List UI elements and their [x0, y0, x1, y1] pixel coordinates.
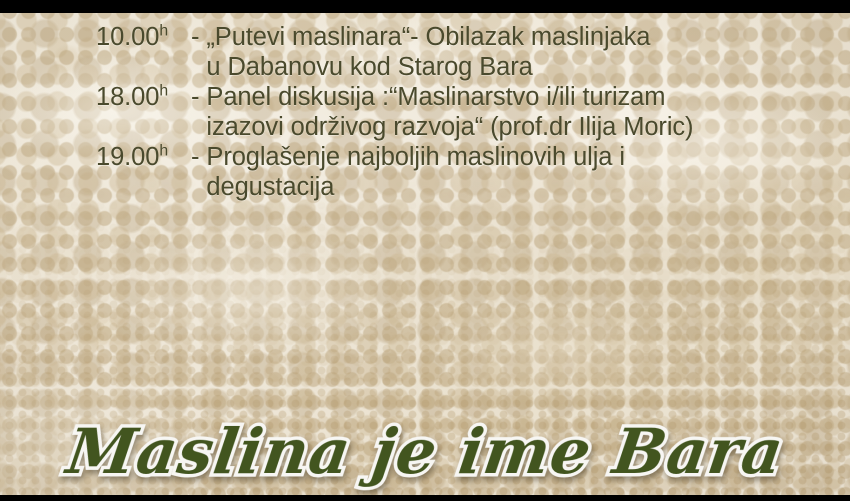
schedule-item-line1: Proglašenje najboljih maslinovih ulja i [206, 143, 625, 171]
schedule-item-line2: u Dabanovu kod Starog Bara [206, 52, 830, 82]
schedule-item-line2: izazovi održivog razvoja“ (prof.dr Ilija… [206, 112, 830, 142]
letterbox-bar-top [0, 0, 850, 13]
schedule-item-line1: Panel diskusija :“Maslinarstvo i/ili tur… [206, 83, 665, 111]
schedule-item-time: 19.00h [96, 142, 186, 172]
schedule-item: 18.00h - Panel diskusija :“Maslinarstvo … [96, 82, 830, 142]
schedule-item: 19.00h - Proglašenje najboljih maslinovi… [96, 142, 830, 202]
schedule-item-description: Proglašenje najboljih maslinovih ulja i … [206, 142, 830, 202]
schedule-item-line2: degustacija [206, 172, 830, 202]
poster-headline: Maslina je ime Bara [0, 421, 850, 491]
schedule-item: 10.00h - „Putevi maslinara“- Obilazak ma… [96, 22, 830, 82]
schedule-item-separator: - [186, 82, 206, 112]
headline-text: Maslina je ime Bara [48, 421, 802, 491]
schedule-item-line1: „Putevi maslinara“- Obilazak maslinjaka [206, 23, 650, 51]
schedule-item-separator: - [186, 22, 206, 52]
schedule-item-separator: - [186, 142, 206, 172]
time-suffix: h [159, 143, 168, 160]
schedule-item-time: 18.00h [96, 82, 186, 112]
schedule-item-description: Panel diskusija :“Maslinarstvo i/ili tur… [206, 82, 830, 142]
time-suffix: h [159, 83, 168, 100]
schedule-item-description: „Putevi maslinara“- Obilazak maslinjaka … [206, 22, 830, 82]
event-poster: 10.00h - „Putevi maslinara“- Obilazak ma… [0, 0, 850, 501]
schedule-item-time: 10.00h [96, 22, 186, 52]
schedule-list: 10.00h - „Putevi maslinara“- Obilazak ma… [96, 22, 830, 202]
time-suffix: h [159, 23, 168, 40]
letterbox-bar-bottom [0, 495, 850, 501]
